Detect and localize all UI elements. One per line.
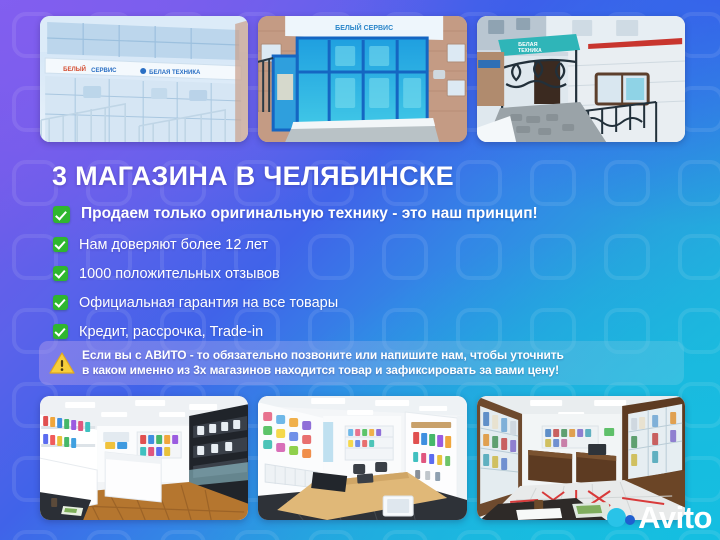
photo-storefront-white-service-building: БЕЛЫЙ СЕРВИС БЕЛАЯ ТЕХНИКА — [40, 16, 248, 142]
page-title: 3 МАГАЗИНА В ЧЕЛЯБИНСКЕ — [52, 161, 454, 192]
svg-text:ТЕХНИКА: ТЕХНИКА — [518, 48, 542, 54]
avito-notice-banner: Если вы с АВИТО - то обязательно позвони… — [39, 341, 684, 385]
list-item: Продаем только оригинальную технику - эт… — [53, 198, 673, 230]
green-check-icon — [53, 206, 70, 223]
avito-notice-line-2: в каком именно из 3х магазинов находится… — [82, 363, 564, 379]
warning-triangle-icon — [49, 351, 75, 375]
photo-interior-white-counter-wood-floor — [40, 396, 248, 520]
list-item-label: 1000 положительных отзывов — [79, 266, 280, 282]
benefits-list: Продаем только оригинальную технику - эт… — [53, 198, 673, 346]
green-check-icon — [53, 266, 68, 281]
photo-storefront-canopy-entrance: БЕЛАЯ ТЕХНИКА — [477, 16, 685, 142]
list-item: 1000 положительных отзывов — [53, 259, 673, 288]
svg-text:СЕРВИС: СЕРВИС — [91, 68, 117, 74]
green-check-icon — [53, 237, 68, 252]
advertisement-banner: БЕЛЫЙ СЕРВИС БЕЛАЯ ТЕХНИКА — [0, 0, 720, 540]
avito-notice-line-1: Если вы с АВИТО - то обязательно позвони… — [82, 348, 564, 364]
list-item-label: Официальная гарантия на все товары — [79, 295, 338, 311]
avito-notice-text: Если вы с АВИТО - то обязательно позвони… — [82, 348, 564, 379]
photo-strip-top: БЕЛЫЙ СЕРВИС БЕЛАЯ ТЕХНИКА — [40, 16, 685, 142]
svg-text:БЕЛЫЙ СЕРВИС: БЕЛЫЙ СЕРВИС — [335, 23, 393, 32]
photo-storefront-blue-glass-entrance: БЕЛЫЙ СЕРВИС — [258, 16, 466, 142]
svg-text:БЕЛЫЙ: БЕЛЫЙ — [63, 65, 86, 73]
list-item-label: Кредит, рассрочка, Trade-in — [79, 324, 263, 340]
list-item-label: Нам доверяют более 12 лет — [79, 237, 268, 253]
list-item: Нам доверяют более 12 лет — [53, 230, 673, 259]
photo-strip-bottom — [40, 396, 685, 520]
svg-text:БЕЛАЯ ТЕХНИКА: БЕЛАЯ ТЕХНИКА — [149, 70, 201, 76]
photo-interior-app-icon-wall-display — [258, 396, 466, 520]
list-item-label: Продаем только оригинальную технику - эт… — [81, 205, 538, 223]
photo-interior-dark-wood-cabinets — [477, 396, 685, 520]
green-check-icon — [53, 295, 68, 310]
green-check-icon — [53, 324, 68, 339]
list-item: Официальная гарантия на все товары — [53, 288, 673, 317]
